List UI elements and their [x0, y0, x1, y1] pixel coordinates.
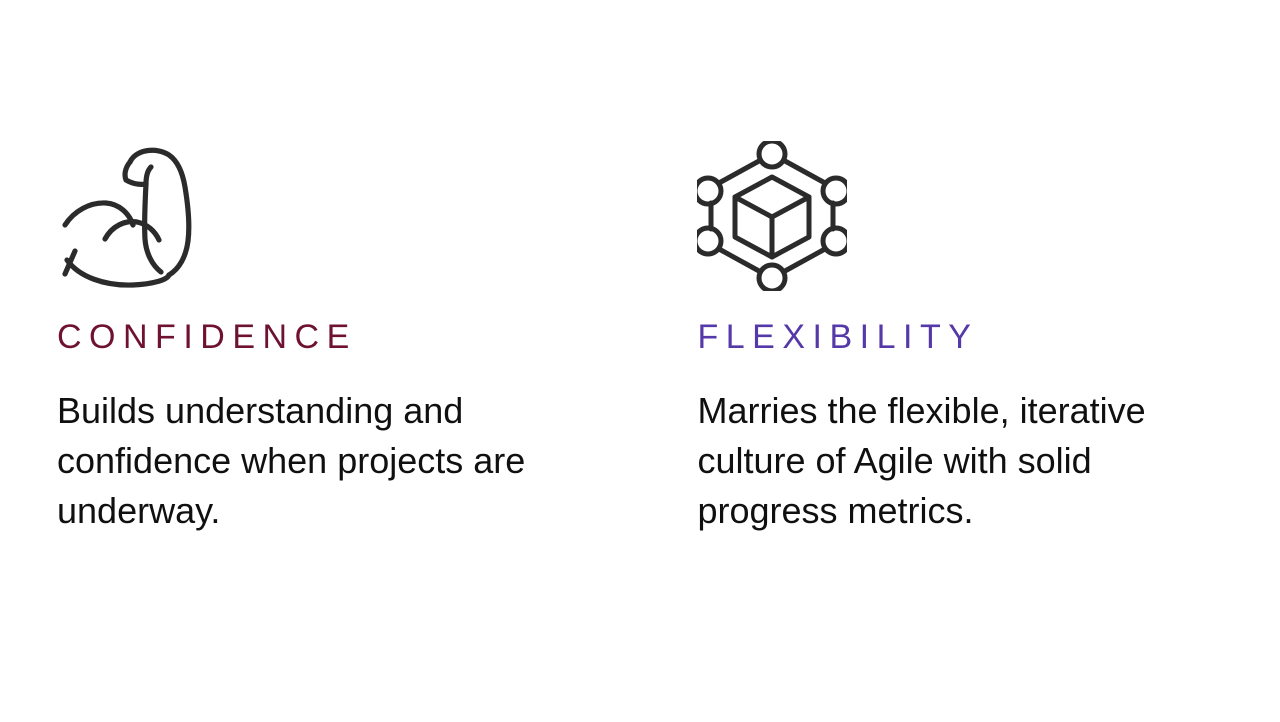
- card-heading-flexibility: FLEXIBILITY: [697, 318, 1240, 356]
- card-flexibility: FLEXIBILITY Marries the flexible, iterat…: [640, 0, 1280, 536]
- card-body-flexibility: Marries the flexible, iterative culture …: [697, 386, 1207, 536]
- flexed-bicep-icon: [57, 141, 580, 291]
- hexagon-network-cube-icon: [697, 141, 1240, 291]
- card-confidence: CONFIDENCE Builds understanding and conf…: [0, 0, 640, 536]
- card-columns: CONFIDENCE Builds understanding and conf…: [0, 0, 1280, 722]
- slide-canvas: CONFIDENCE Builds understanding and conf…: [0, 0, 1280, 722]
- card-heading-confidence: CONFIDENCE: [57, 318, 580, 356]
- card-body-confidence: Builds understanding and confidence when…: [57, 386, 580, 536]
